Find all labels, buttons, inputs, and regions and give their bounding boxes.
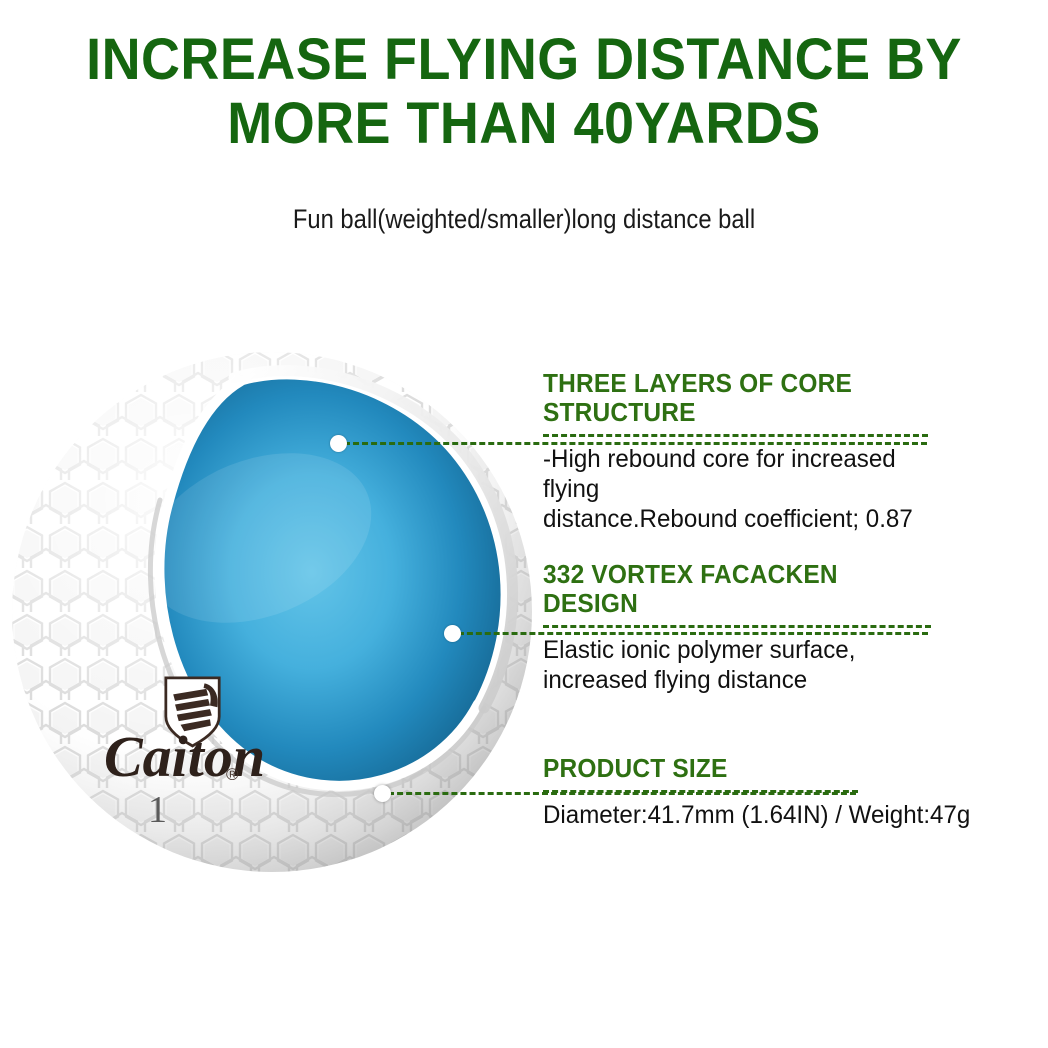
callout-size: PRODUCT SIZE Diameter:41.7mm (1.64IN) / …	[543, 755, 863, 830]
callout-vortex-divider	[543, 625, 931, 628]
golf-ball-svg: Caiton ® 1	[8, 348, 536, 876]
ball-number: 1	[148, 789, 167, 831]
callout-vortex: 332 VORTEX FACACKEN DESIGN Elastic ionic…	[543, 561, 936, 695]
callout-marker-core	[330, 435, 347, 452]
callout-core: THREE LAYERS OF CORE STRUCTURE -High reb…	[543, 370, 933, 534]
page-header: INCREASE FLYING DISTANCE BY MORE THAN 40…	[0, 28, 1048, 156]
callout-marker-vortex	[444, 625, 461, 642]
brand-wordmark: Caiton	[104, 724, 265, 789]
callout-vortex-heading: 332 VORTEX FACACKEN DESIGN	[543, 561, 920, 619]
callout-marker-size	[374, 785, 391, 802]
callout-size-body: Diameter:41.7mm (1.64IN) / Weight:47g	[543, 800, 852, 830]
callout-core-body: -High rebound core for increased flying …	[543, 444, 919, 534]
callout-vortex-body: Elastic ionic polymer surface, increased…	[543, 635, 922, 695]
page-title-line-1: INCREASE FLYING DISTANCE BY	[37, 28, 1012, 92]
page-title-line-2: MORE THAN 40YARDS	[37, 92, 1012, 156]
page-subtitle: Fun ball(weighted/smaller)long distance …	[63, 202, 985, 236]
callout-core-divider	[543, 434, 928, 437]
callout-size-heading: PRODUCT SIZE	[543, 755, 850, 784]
brand-registered-mark: ®	[226, 765, 239, 784]
callout-size-divider	[543, 790, 858, 793]
golf-ball-cutaway-illustration: Caiton ® 1	[8, 348, 536, 876]
callout-core-heading: THREE LAYERS OF CORE STRUCTURE	[543, 370, 917, 428]
